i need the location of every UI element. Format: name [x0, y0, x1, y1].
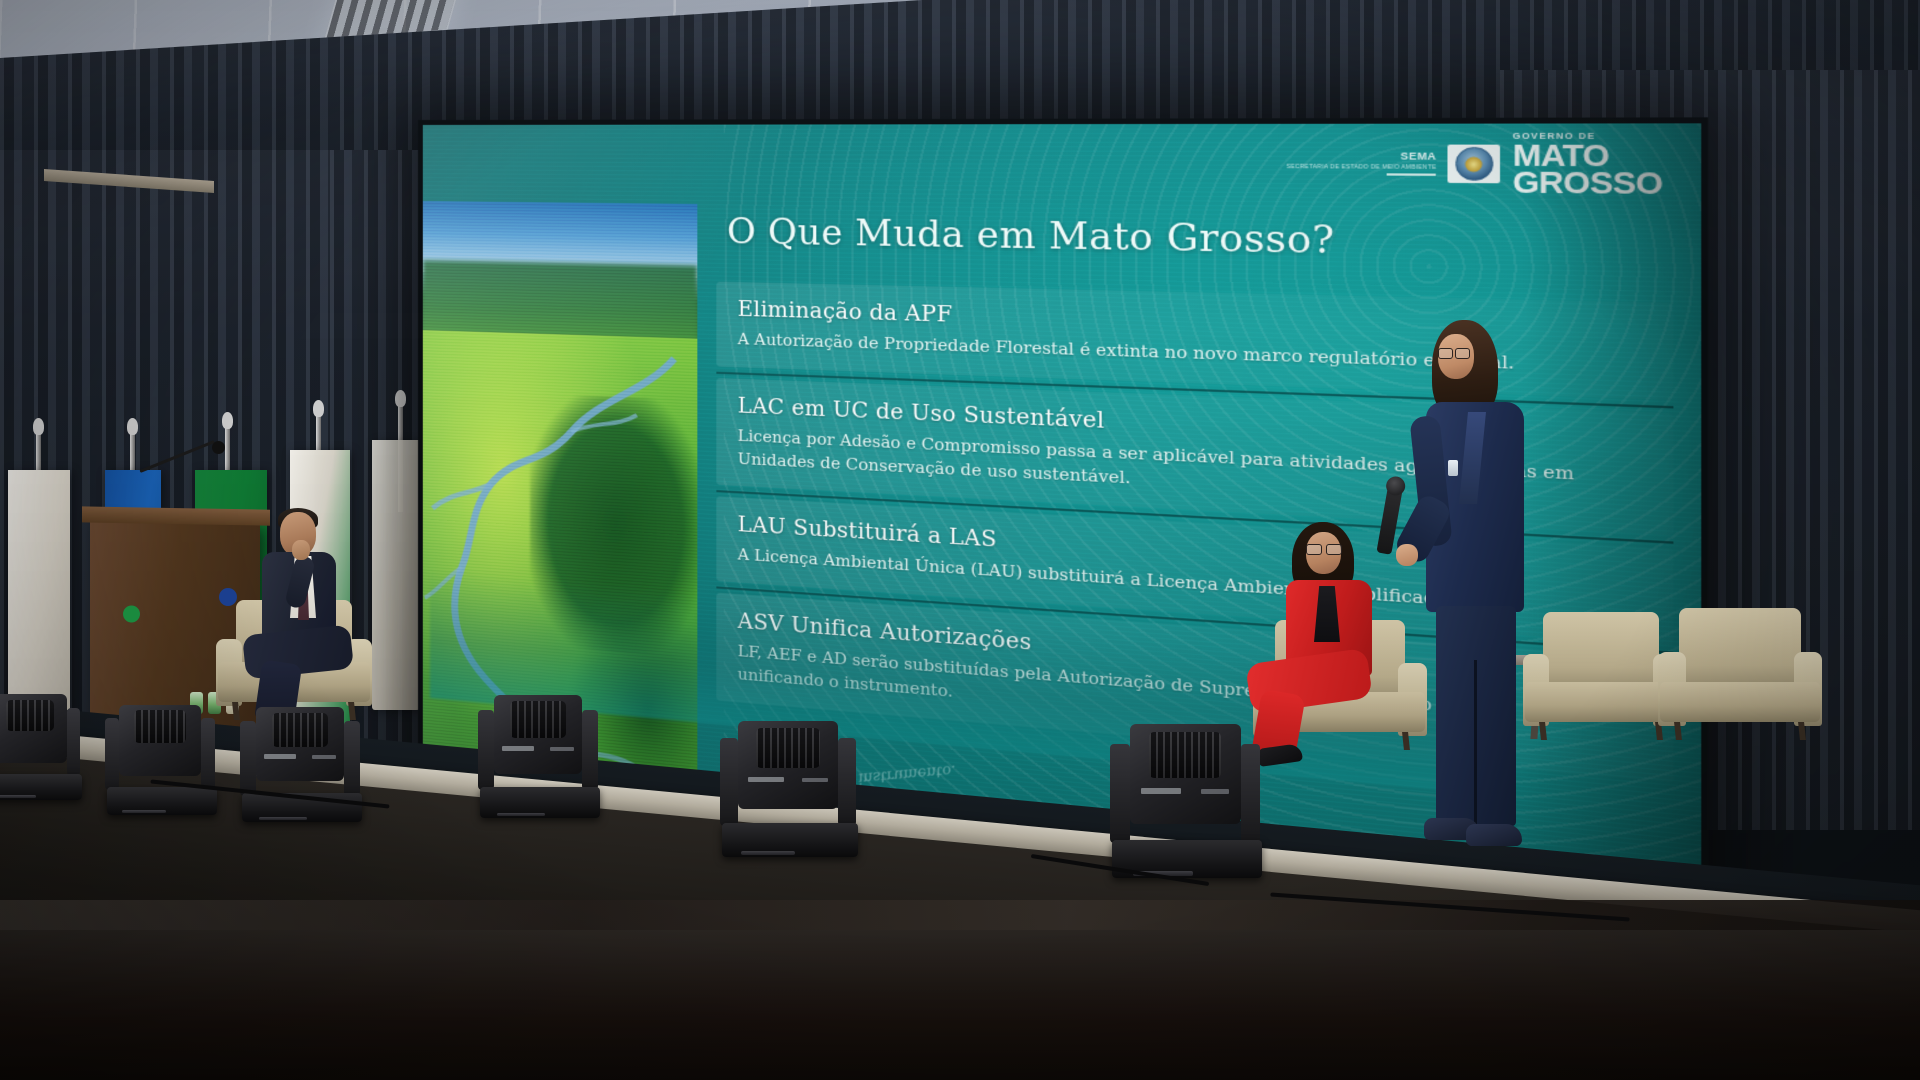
sema-abbr: SEMA [1401, 152, 1437, 163]
moving-head-light [0, 690, 80, 800]
sema-rule [1387, 174, 1436, 176]
flagpole-finial [222, 412, 233, 429]
flagpole-finial [395, 390, 406, 407]
moving-head-light [240, 702, 360, 822]
flagpole-finial [313, 400, 324, 417]
foreground-floor [0, 930, 1920, 1080]
moving-head-light [478, 690, 598, 818]
armchair [1525, 612, 1677, 740]
auditorium-stage-photo: SEMA SECRETARIA DE ESTADO DE MEIO AMBIEN… [0, 0, 1920, 1080]
armchair [1660, 608, 1820, 740]
sema-subtitle: SECRETARIA DE ESTADO DE MEIO AMBIENTE [1286, 163, 1436, 171]
hand [292, 540, 310, 560]
eyeglasses-icon [1438, 348, 1472, 357]
moving-head-light [720, 715, 856, 857]
sema-logo: SEMA SECRETARIA DE ESTADO DE MEIO AMBIEN… [1286, 151, 1436, 175]
eyeglasses-icon [1306, 544, 1342, 553]
moving-head-light [1110, 718, 1260, 878]
flagpole-finial [127, 418, 138, 435]
shoe [1466, 824, 1522, 846]
flagpole-finial [33, 418, 44, 435]
hand [1396, 544, 1418, 566]
podium-microphone-head [212, 441, 225, 454]
speaker-standing [1410, 320, 1540, 880]
screen-edge-shadow [1521, 123, 1701, 971]
mato-grosso-coat-of-arms-icon [1448, 145, 1501, 184]
name-badge [1448, 460, 1458, 476]
panelist-seated-left [236, 512, 386, 727]
trouser-seam [1474, 660, 1477, 826]
moving-head-light [105, 700, 215, 815]
